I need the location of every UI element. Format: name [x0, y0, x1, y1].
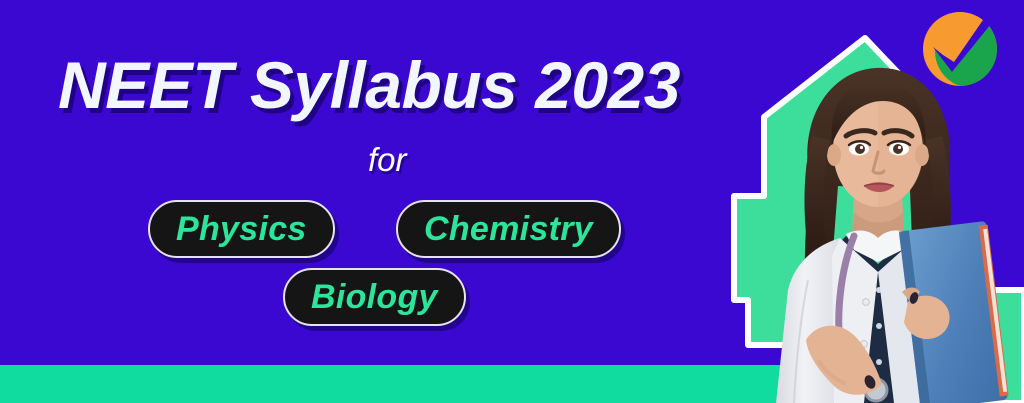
for-connector-label: for — [368, 140, 407, 180]
medical-student-photo — [742, 40, 1024, 403]
checkmark-circle-logo — [921, 10, 999, 88]
subject-pill-chemistry[interactable]: Chemistry — [396, 200, 621, 258]
subject-pill-biology[interactable]: Biology — [283, 268, 466, 326]
subject-pill-physics[interactable]: Physics — [148, 200, 335, 258]
neet-syllabus-banner: NEET Syllabus 2023 for Physics Chemistry… — [0, 0, 1024, 403]
page-title: NEET Syllabus 2023 — [58, 46, 680, 124]
